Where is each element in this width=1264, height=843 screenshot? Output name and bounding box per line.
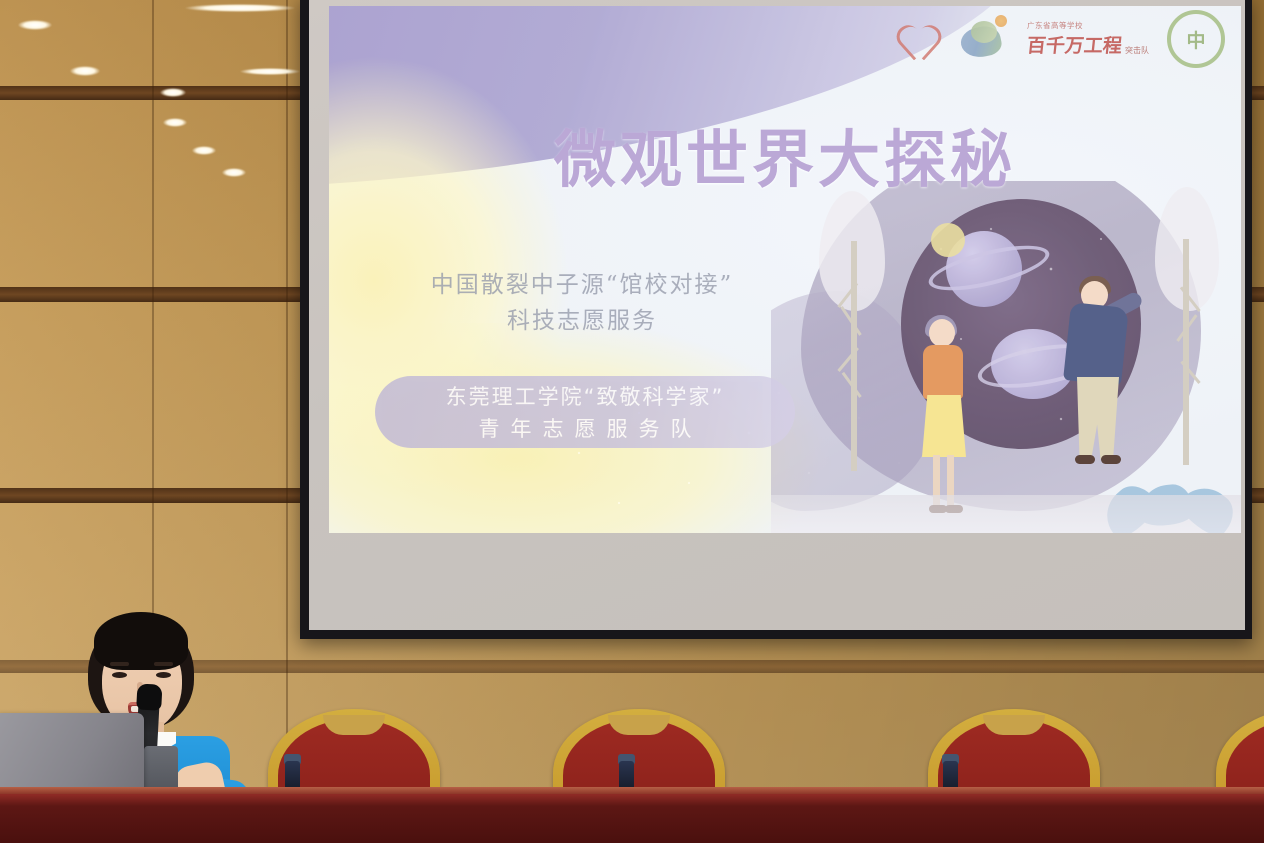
slide-subtitle-line-1: 中国散裂中子源“馆校对接”	[347, 268, 817, 304]
wordmark-top-text: 广东省高等学校	[1027, 20, 1149, 31]
projection-screen: 广东省高等学校 百千万工程 突击队 中 微观世界大探秘 中国散裂中子源“馆校对接…	[300, 0, 1252, 639]
banner-line-2: 青年志愿服务队	[468, 413, 703, 443]
ceiling-light-reflection	[222, 168, 246, 177]
figure-boy	[1067, 281, 1137, 471]
conference-table	[0, 787, 1264, 843]
girl-top	[923, 345, 963, 399]
baiqianwan-wordmark: 广东省高等学校 百千万工程 突击队	[1027, 20, 1149, 58]
slide-logo-row: 广东省高等学校 百千万工程 突击队 中	[899, 10, 1225, 68]
tree-trunk-right	[1183, 239, 1189, 465]
banner-line-1: 东莞理工学院“致敬科学家”	[446, 381, 725, 411]
boy-pants	[1077, 377, 1119, 459]
girl-skirt	[922, 395, 966, 457]
ceiling-light-reflection	[70, 66, 100, 76]
slide-title: 微观世界大探秘	[329, 109, 1241, 199]
ceiling-light-reflection	[163, 118, 187, 127]
presenter-eye	[156, 672, 171, 678]
presenter-eye	[112, 672, 127, 678]
screenshot-root: 广东省高等学校 百千万工程 突击队 中 微观世界大探秘 中国散裂中子源“馆校对接…	[0, 0, 1264, 843]
presenter-hair-top	[94, 612, 188, 670]
slide-subtitle: 中国散裂中子源“馆校对接” 科技志愿服务	[347, 268, 817, 339]
heart-icon	[899, 21, 939, 57]
ceiling-light-reflection	[18, 20, 52, 30]
space-exploration-illustration	[771, 181, 1241, 533]
presentation-slide: 广东省高等学校 百千万工程 突击队 中 微观世界大探秘 中国散裂中子源“馆校对接…	[329, 6, 1241, 533]
slide-subtitle-line-2: 科技志愿服务	[347, 304, 817, 340]
girl-head	[929, 319, 955, 347]
table-edge	[0, 787, 1264, 794]
ceiling-light-reflection	[240, 68, 300, 75]
green-seal-logo: 中	[1167, 10, 1225, 68]
ceiling-light-reflection	[185, 4, 295, 12]
planet-crescent	[931, 223, 965, 257]
wordmark-main-text: 百千万工程	[1026, 31, 1124, 58]
wordmark-suffix-text: 突击队	[1125, 45, 1149, 58]
swoosh-logo	[957, 15, 1009, 63]
slide-organization-banner: 东莞理工学院“致敬科学家” 青年志愿服务队	[375, 376, 795, 448]
illustration-ground	[771, 495, 1241, 533]
presenter-eyebrow	[110, 662, 129, 666]
presenter-eyebrow	[154, 662, 173, 666]
boy-jacket	[1063, 302, 1129, 386]
screen-surface: 广东省高等学校 百千万工程 突击队 中 微观世界大探秘 中国散裂中子源“馆校对接…	[309, 0, 1245, 630]
figure-girl	[921, 319, 971, 519]
boy-shoe	[1075, 455, 1095, 464]
ceiling-light-reflection	[192, 146, 216, 155]
ceiling-light-reflection	[160, 88, 186, 97]
